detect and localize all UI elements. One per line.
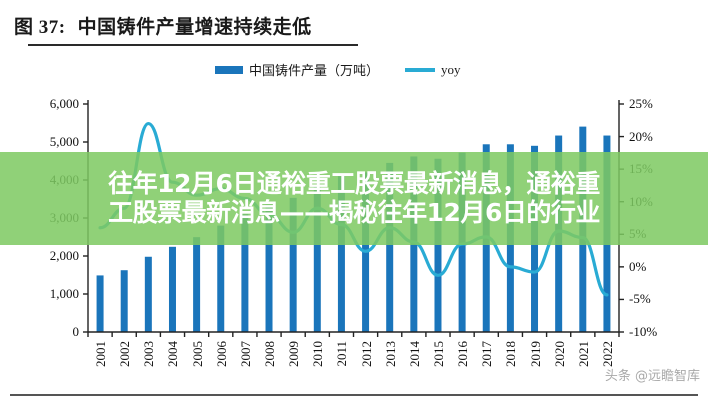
watermark-text: 头条 @远瞻智库 bbox=[605, 365, 700, 384]
bar-2001 bbox=[97, 275, 104, 332]
y2-axis-label: -10% bbox=[629, 324, 657, 340]
x-axis-label-2006: 2006 bbox=[214, 341, 230, 367]
bar-2008 bbox=[266, 205, 273, 332]
bar-series bbox=[97, 127, 611, 332]
title-underline bbox=[28, 44, 358, 46]
y-axis-label: 0 bbox=[73, 324, 80, 340]
figure-number: 图 37: bbox=[14, 17, 66, 38]
y2-axis-label: 0% bbox=[629, 259, 646, 275]
bar-2005 bbox=[193, 237, 200, 332]
chart-svg bbox=[0, 86, 708, 346]
bar-2015 bbox=[434, 159, 441, 332]
x-axis-label-2011: 2011 bbox=[334, 341, 350, 367]
x-axis-label-2003: 2003 bbox=[141, 341, 157, 367]
x-axis-label-2016: 2016 bbox=[455, 341, 471, 367]
x-axis-label-2019: 2019 bbox=[528, 341, 544, 367]
y-axis-label: 3,000 bbox=[50, 210, 79, 226]
legend-label-bar: 中国铸件产量（万吨） bbox=[249, 60, 379, 79]
bar-2002 bbox=[121, 270, 128, 332]
x-axis-label-2005: 2005 bbox=[190, 341, 206, 367]
y-axis-label: 1,000 bbox=[50, 286, 79, 302]
y-axis-label: 5,000 bbox=[50, 134, 79, 150]
cyan-line-swatch-icon bbox=[405, 68, 435, 72]
chart-legend: 中国铸件产量（万吨） yoy bbox=[215, 60, 461, 79]
x-axis-label-2009: 2009 bbox=[286, 341, 302, 367]
y-axis-label: 4,000 bbox=[50, 172, 79, 188]
bar-2007 bbox=[241, 214, 248, 332]
x-axis-label-2002: 2002 bbox=[117, 341, 133, 367]
y-axis-label: 2,000 bbox=[50, 248, 79, 264]
bar-2018 bbox=[507, 144, 514, 332]
bar-2006 bbox=[217, 226, 224, 332]
legend-item-bar: 中国铸件产量（万吨） bbox=[215, 60, 379, 79]
blue-bar-swatch-icon bbox=[215, 66, 243, 74]
y2-axis-label: 20% bbox=[629, 129, 653, 145]
bar-2022 bbox=[603, 136, 610, 332]
line-series-yoy bbox=[100, 124, 607, 295]
x-axis-label-2013: 2013 bbox=[383, 341, 399, 367]
x-axis-label-2020: 2020 bbox=[552, 341, 568, 367]
legend-item-line: yoy bbox=[405, 62, 461, 78]
legend-label-line: yoy bbox=[441, 62, 461, 78]
y-axis-label: 6,000 bbox=[50, 96, 79, 112]
x-axis-label-2010: 2010 bbox=[310, 341, 326, 367]
y2-axis-label: -5% bbox=[629, 291, 651, 307]
bar-2011 bbox=[338, 176, 345, 332]
x-axis-label-2018: 2018 bbox=[503, 341, 519, 367]
y2-axis-label: 10% bbox=[629, 194, 653, 210]
x-axis-label-2008: 2008 bbox=[262, 341, 278, 367]
y2-axis-label: 5% bbox=[629, 226, 646, 242]
x-axis-label-2004: 2004 bbox=[165, 341, 181, 367]
bar-2009 bbox=[290, 198, 297, 332]
x-axis-label-2015: 2015 bbox=[431, 341, 447, 367]
figure-title: 图 37:中国铸件产量增速持续走低 bbox=[14, 12, 312, 39]
chart-plot-area bbox=[0, 86, 708, 346]
x-axis-label-2007: 2007 bbox=[238, 341, 254, 367]
x-axis-label-2021: 2021 bbox=[576, 341, 592, 367]
bar-2021 bbox=[579, 127, 586, 332]
x-axis-label-2017: 2017 bbox=[479, 341, 495, 367]
bottom-divider bbox=[10, 394, 698, 396]
bar-2019 bbox=[531, 146, 538, 332]
bar-2013 bbox=[386, 163, 393, 332]
x-axis-label-2022: 2022 bbox=[600, 341, 616, 367]
bar-2004 bbox=[169, 247, 176, 332]
x-axis-label-2001: 2001 bbox=[93, 341, 109, 367]
x-axis-label-2012: 2012 bbox=[359, 341, 375, 367]
x-axis-label-2014: 2014 bbox=[407, 341, 423, 367]
bar-2003 bbox=[145, 257, 152, 332]
y2-axis-label: 15% bbox=[629, 161, 653, 177]
y2-axis-label: 25% bbox=[629, 96, 653, 112]
figure-title-text: 中国铸件产量增速持续走低 bbox=[78, 17, 312, 38]
